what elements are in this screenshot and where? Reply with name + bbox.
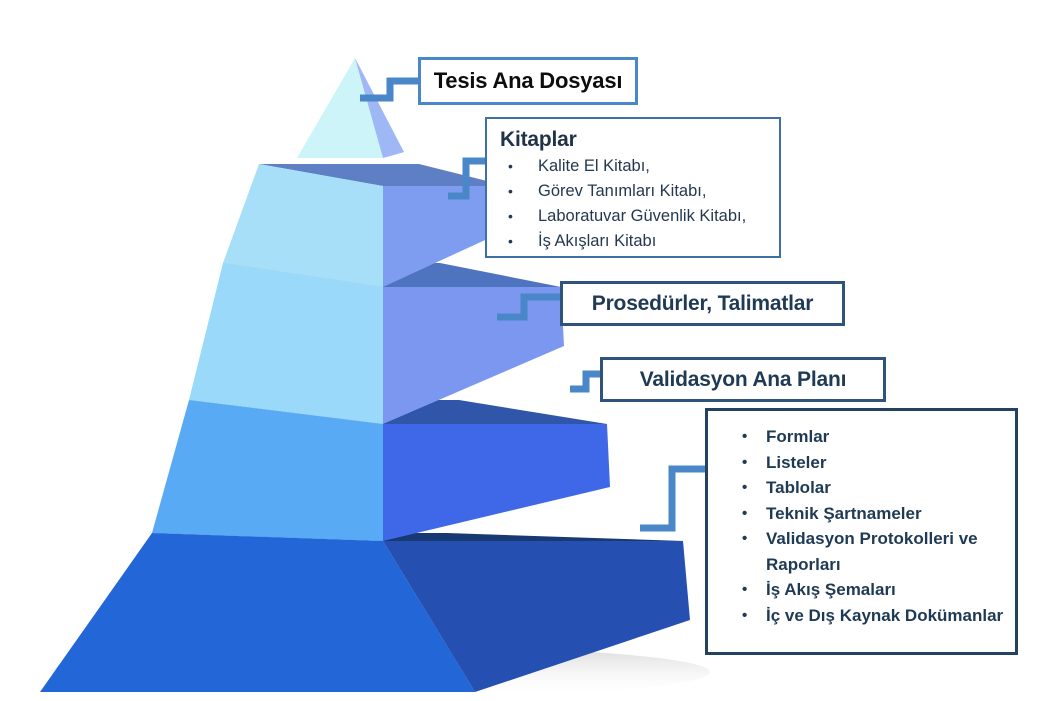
bullet-icon: • <box>508 179 513 204</box>
list-item: • İç ve Dış Kaynak Dokümanlar <box>722 603 1007 629</box>
list-item: • İş Akışları Kitabı <box>500 229 773 254</box>
list-item-label: Kalite El Kitabı, <box>538 157 650 175</box>
bullet-icon: • <box>742 501 747 527</box>
list-item-label: Validasyon Protokolleri ve Raporları <box>766 529 978 574</box>
bullet-icon: • <box>742 475 747 501</box>
callout-books-title: Kitaplar <box>500 128 773 152</box>
callout-facility[interactable]: Tesis Ana Dosyası <box>418 57 638 105</box>
tier4-right-face <box>383 424 610 541</box>
list-item: • Görev Tanımları Kitabı, <box>500 179 773 204</box>
list-item-label: İş Akış Şemaları <box>766 580 896 599</box>
callout-documents[interactable]: • Formlar • Listeler • Tablolar • Teknik… <box>705 408 1018 655</box>
callout-procedures[interactable]: Prosedürler, Talimatlar <box>560 281 845 326</box>
list-item: • Tablolar <box>722 475 1007 501</box>
callout-validation-title: Validasyon Ana Planı <box>640 368 846 392</box>
list-item: • Listeler <box>722 450 1007 476</box>
bullet-icon: • <box>742 577 747 603</box>
callout-validation[interactable]: Validasyon Ana Planı <box>600 357 886 402</box>
list-item-label: Görev Tanımları Kitabı, <box>538 182 706 200</box>
bullet-icon: • <box>742 526 747 552</box>
pyramid-tier-validation <box>152 400 683 541</box>
list-item-label: Teknik Şartnameler <box>766 504 922 523</box>
list-item-label: İş Akışları Kitabı <box>538 232 656 250</box>
list-item: • Validasyon Protokolleri ve Raporları <box>722 526 1007 577</box>
pyramid-tier-apex <box>297 58 404 158</box>
list-item: • Formlar <box>722 424 1007 450</box>
pyramid-diagram: Tesis Ana Dosyası Kitaplar • Kalite El K… <box>0 0 1061 701</box>
bullet-icon: • <box>508 204 513 229</box>
list-item-label: Formlar <box>766 427 829 446</box>
callout-books[interactable]: Kitaplar • Kalite El Kitabı, • Görev Tan… <box>485 117 781 258</box>
callout-facility-title: Tesis Ana Dosyası <box>434 68 623 94</box>
connector-validation <box>570 374 602 389</box>
list-item: • İş Akış Şemaları <box>722 577 1007 603</box>
list-item: • Laboratuvar Güvenlik Kitabı, <box>500 204 773 229</box>
books-list: • Kalite El Kitabı, • Görev Tanımları Ki… <box>500 154 773 254</box>
bullet-icon: • <box>742 424 747 450</box>
list-item: • Kalite El Kitabı, <box>500 154 773 179</box>
pyramid-tier-procedures <box>189 263 564 424</box>
tier3-left-face <box>189 263 383 424</box>
list-item-label: Tablolar <box>766 478 831 497</box>
documents-list: • Formlar • Listeler • Tablolar • Teknik… <box>722 424 1007 628</box>
tier4-left-face <box>152 400 383 541</box>
list-item: • Teknik Şartnameler <box>722 501 1007 527</box>
bullet-icon: • <box>508 154 513 179</box>
bullet-icon: • <box>742 450 747 476</box>
list-item-label: Listeler <box>766 453 826 472</box>
bullet-icon: • <box>508 229 513 254</box>
callout-procedures-title: Prosedürler, Talimatlar <box>592 292 813 316</box>
bullet-icon: • <box>742 603 747 629</box>
list-item-label: İç ve Dış Kaynak Dokümanlar <box>766 606 1003 625</box>
list-item-label: Laboratuvar Güvenlik Kitabı, <box>538 207 746 225</box>
